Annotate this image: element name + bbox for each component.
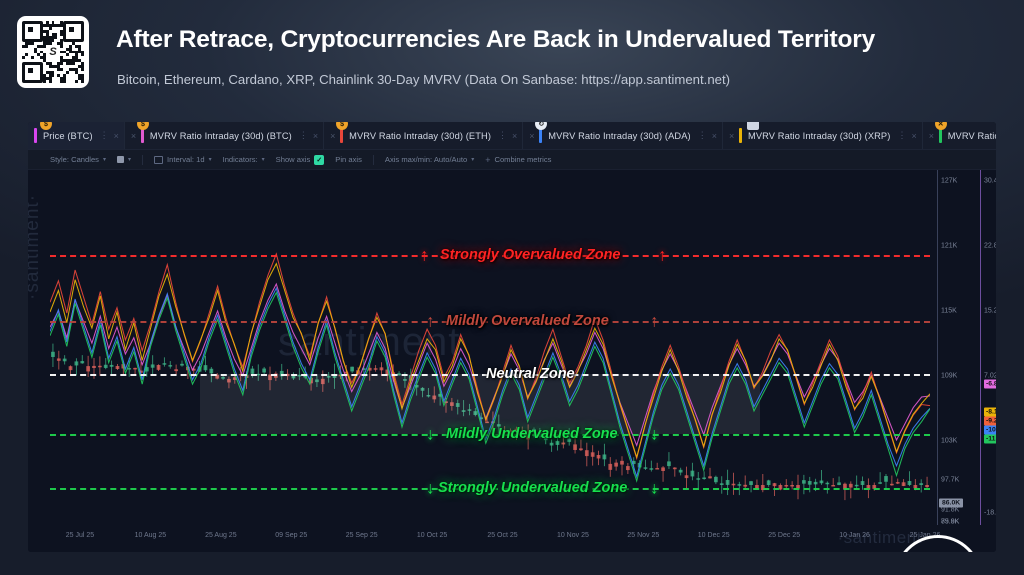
tab-color-indicator bbox=[739, 128, 742, 143]
chevron-down-icon: ▾ bbox=[471, 156, 474, 163]
chart-toolbar: Style: Candles ▾ ▾ Interval: 1d ▾ Indica… bbox=[28, 150, 996, 170]
mvrv-line-series bbox=[50, 170, 930, 525]
qr-code[interactable]: S bbox=[17, 16, 89, 88]
indicators-control[interactable]: Indicators: ▾ bbox=[223, 155, 265, 164]
combine-metrics-label: Combine metrics bbox=[494, 155, 551, 164]
percent-current-badge-XRP: -8.169% bbox=[984, 408, 996, 417]
screenshot-root: S After Retrace, Cryptocurrencies Are Ba… bbox=[0, 0, 1024, 575]
color-swatch-icon bbox=[117, 156, 124, 163]
x-axis-tick: 25 Aug 25 bbox=[205, 532, 237, 539]
price-axis-tick: 79.9K bbox=[941, 519, 959, 526]
page-subtitle: Bitcoin, Ethereum, Cardano, XRP, Chainli… bbox=[117, 72, 730, 87]
calendar-icon bbox=[154, 156, 163, 164]
metric-tab-label: MVRV Ratio Intraday (30d) (BTC) bbox=[150, 131, 292, 141]
x-axis-tick: 10 Aug 25 bbox=[135, 532, 167, 539]
price-axis-tick: 109K bbox=[941, 373, 957, 380]
toolbar-divider bbox=[142, 155, 143, 165]
zone-label-mun: Mildly Undervalued Zone bbox=[446, 426, 618, 442]
x-axis-tick: 25 Dec 25 bbox=[768, 532, 800, 539]
price-axis-tick: 91.8K bbox=[941, 507, 959, 514]
metric-tab-strip: $Price (BTC)⋮×$×MVRV Ratio Intraday (30d… bbox=[28, 122, 996, 150]
chevron-down-icon: ▾ bbox=[209, 156, 212, 163]
style-label: Style: Candles bbox=[50, 155, 99, 164]
metric-tab-2[interactable]: $×MVRV Ratio Intraday (30d) (BTC)⋮× bbox=[125, 122, 324, 149]
tab-color-indicator bbox=[340, 128, 343, 143]
percent-axis-tick: 30.49% bbox=[984, 178, 996, 185]
tab-menu-icon[interactable]: ⋮ bbox=[100, 130, 108, 141]
series-canvas bbox=[50, 170, 930, 525]
metric-tab-5[interactable]: ×MVRV Ratio Intraday (30d) (XRP)⋮× bbox=[723, 122, 923, 149]
qr-finder-pattern bbox=[22, 21, 43, 42]
zone-arrow-mun-1: ↓ bbox=[426, 426, 435, 443]
tab-close-icon[interactable]: × bbox=[313, 131, 318, 141]
qr-finder-pattern bbox=[63, 21, 84, 42]
percent-current-badge-ETH: -9.203% bbox=[984, 417, 996, 426]
zone-label-neu: Neutral Zone bbox=[486, 366, 575, 382]
plot-area[interactable]: ·santiment· santiment ·santiment· Strong… bbox=[28, 170, 996, 552]
zone-arrow-mun-2: ↓ bbox=[650, 426, 659, 443]
metric-tab-1[interactable]: $Price (BTC)⋮× bbox=[28, 122, 125, 149]
x-axis-tick: 25 Sep 25 bbox=[346, 532, 378, 539]
zone-arrow-sun-1: ↓ bbox=[426, 479, 435, 496]
plus-icon: + bbox=[485, 155, 490, 165]
tab-close-icon[interactable]: × bbox=[114, 131, 119, 141]
chevron-down-icon: ▾ bbox=[262, 156, 265, 163]
metric-tab-label: MVRV Ratio Intraday (30d) (ETH) bbox=[349, 131, 491, 141]
tab-status-badge-coin: $ bbox=[40, 122, 52, 130]
tab-color-indicator bbox=[539, 128, 542, 143]
metric-tab-6[interactable]: ✕×MVRV Ratio Intraday (30d) (LINK)⋮× bbox=[923, 122, 996, 149]
metric-tab-label: MVRV Ratio Intraday (30d) (XRP) bbox=[748, 131, 890, 141]
zone-arrow-mov-1: ↑ bbox=[426, 312, 435, 329]
toolbar-divider bbox=[373, 155, 374, 165]
percent-current-badge-BTC: -6.843% bbox=[984, 380, 996, 389]
axis-minmax-label: Axis max/min: Auto/Auto bbox=[385, 155, 467, 164]
zone-label-mov: Mildly Overvalued Zone bbox=[446, 313, 609, 329]
x-axis-tick: 10 Jan 26 bbox=[839, 532, 870, 539]
close-icon[interactable]: × bbox=[729, 131, 736, 141]
price-axis-tick: 103K bbox=[941, 438, 957, 445]
percent-axis-tick: 7.023% bbox=[984, 373, 996, 380]
chevron-down-icon: ▾ bbox=[128, 156, 131, 163]
x-axis-tick: 25 Nov 25 bbox=[627, 532, 659, 539]
metric-tab-label: MVRV Ratio Intraday (30d) (LINK) bbox=[948, 131, 996, 141]
tab-color-indicator bbox=[939, 128, 942, 143]
chart-panel: $Price (BTC)⋮×$×MVRV Ratio Intraday (30d… bbox=[28, 122, 996, 552]
pin-axis-label: Pin axis bbox=[335, 155, 362, 164]
tab-menu-icon[interactable]: ⋮ bbox=[897, 130, 905, 141]
zone-arrow-mov-2: ↑ bbox=[650, 312, 659, 329]
tab-status-badge-coin: $ bbox=[137, 122, 149, 130]
close-icon[interactable]: × bbox=[330, 131, 337, 141]
price-axis-tick: 127K bbox=[941, 178, 957, 185]
metric-tab-label: MVRV Ratio Intraday (30d) (ADA) bbox=[548, 131, 690, 141]
zone-label-sun: Strongly Undervalued Zone bbox=[438, 480, 627, 496]
percent-axis-tick: 15.28% bbox=[984, 308, 996, 315]
color-swatch-control[interactable]: ▾ bbox=[117, 156, 131, 163]
style-control[interactable]: Style: Candles ▾ bbox=[50, 155, 106, 164]
tab-status-badge-close: ✕ bbox=[935, 122, 947, 130]
plot-bottom-strip bbox=[28, 544, 996, 552]
close-icon[interactable]: × bbox=[929, 131, 936, 141]
tab-status-badge-sync: ↻ bbox=[535, 122, 547, 130]
tab-close-icon[interactable]: × bbox=[911, 131, 916, 141]
x-axis-tick: 25 Jul 25 bbox=[66, 532, 94, 539]
x-axis-tick: 09 Sep 25 bbox=[275, 532, 307, 539]
tab-menu-icon[interactable]: ⋮ bbox=[698, 130, 706, 141]
interval-label: Interval: 1d bbox=[167, 155, 205, 164]
x-axis-tick: 10 Nov 25 bbox=[557, 532, 589, 539]
tab-color-indicator bbox=[34, 128, 37, 143]
page-title: After Retrace, Cryptocurrencies Are Back… bbox=[116, 26, 875, 54]
price-axis-line bbox=[937, 170, 938, 525]
metric-tab-3[interactable]: $×MVRV Ratio Intraday (30d) (ETH)⋮× bbox=[324, 122, 523, 149]
tab-close-icon[interactable]: × bbox=[712, 131, 717, 141]
price-axis-tick: 97.7K bbox=[941, 477, 959, 484]
x-axis-tick: 25 Oct 25 bbox=[487, 532, 517, 539]
x-axis-tick: 10 Dec 25 bbox=[698, 532, 730, 539]
pin-axis-control[interactable]: Pin axis bbox=[335, 155, 362, 164]
percent-axis-tick: 22.87% bbox=[984, 243, 996, 250]
chevron-down-icon: ▾ bbox=[103, 156, 106, 163]
show-axis-label: Show axis bbox=[276, 155, 311, 164]
tab-close-icon[interactable]: × bbox=[512, 131, 517, 141]
x-axis-tick: 10 Oct 25 bbox=[417, 532, 447, 539]
tab-status-badge-lock bbox=[747, 122, 759, 130]
zone-arrow-sov-1: ↑ bbox=[420, 247, 429, 264]
header-banner: S After Retrace, Cryptocurrencies Are Ba… bbox=[0, 0, 1024, 118]
show-axis-control[interactable]: Show axis ✓ bbox=[276, 155, 325, 165]
percent-current-badge-LINK: -11.64% bbox=[984, 435, 996, 444]
price-axis-tick: 115K bbox=[941, 308, 957, 315]
tab-menu-icon[interactable]: ⋮ bbox=[299, 130, 307, 141]
close-icon[interactable]: × bbox=[131, 131, 138, 141]
tab-status-badge-coin: $ bbox=[336, 122, 348, 130]
tab-menu-icon[interactable]: ⋮ bbox=[498, 130, 506, 141]
watermark-left: ·santiment· bbox=[28, 194, 44, 300]
tab-color-indicator bbox=[141, 128, 144, 143]
qr-finder-pattern bbox=[22, 62, 43, 83]
percent-axis-line bbox=[980, 170, 981, 525]
zone-arrow-sov-2: ↑ bbox=[658, 247, 667, 264]
interval-control[interactable]: Interval: 1d ▾ bbox=[154, 155, 212, 164]
zone-arrow-sun-2: ↓ bbox=[650, 479, 659, 496]
checkbox-checked-icon[interactable]: ✓ bbox=[314, 155, 324, 165]
zone-label-sov: Strongly Overvalued Zone bbox=[440, 247, 621, 263]
indicators-label: Indicators: bbox=[223, 155, 258, 164]
metric-tab-label: Price (BTC) bbox=[43, 131, 93, 141]
qr-center-logo: S bbox=[44, 43, 62, 61]
percent-axis-tick: -18.31% bbox=[984, 510, 996, 517]
axis-minmax-control[interactable]: Axis max/min: Auto/Auto ▾ bbox=[385, 155, 474, 164]
price-current-badge: 86.0K bbox=[939, 499, 963, 508]
close-icon[interactable]: × bbox=[529, 131, 536, 141]
price-axis-tick: 121K bbox=[941, 243, 957, 250]
combine-metrics-control[interactable]: + Combine metrics bbox=[485, 155, 551, 165]
metric-tab-4[interactable]: ↻×MVRV Ratio Intraday (30d) (ADA)⋮× bbox=[523, 122, 723, 149]
percent-current-badge-ADA: -10.34% bbox=[984, 426, 996, 435]
